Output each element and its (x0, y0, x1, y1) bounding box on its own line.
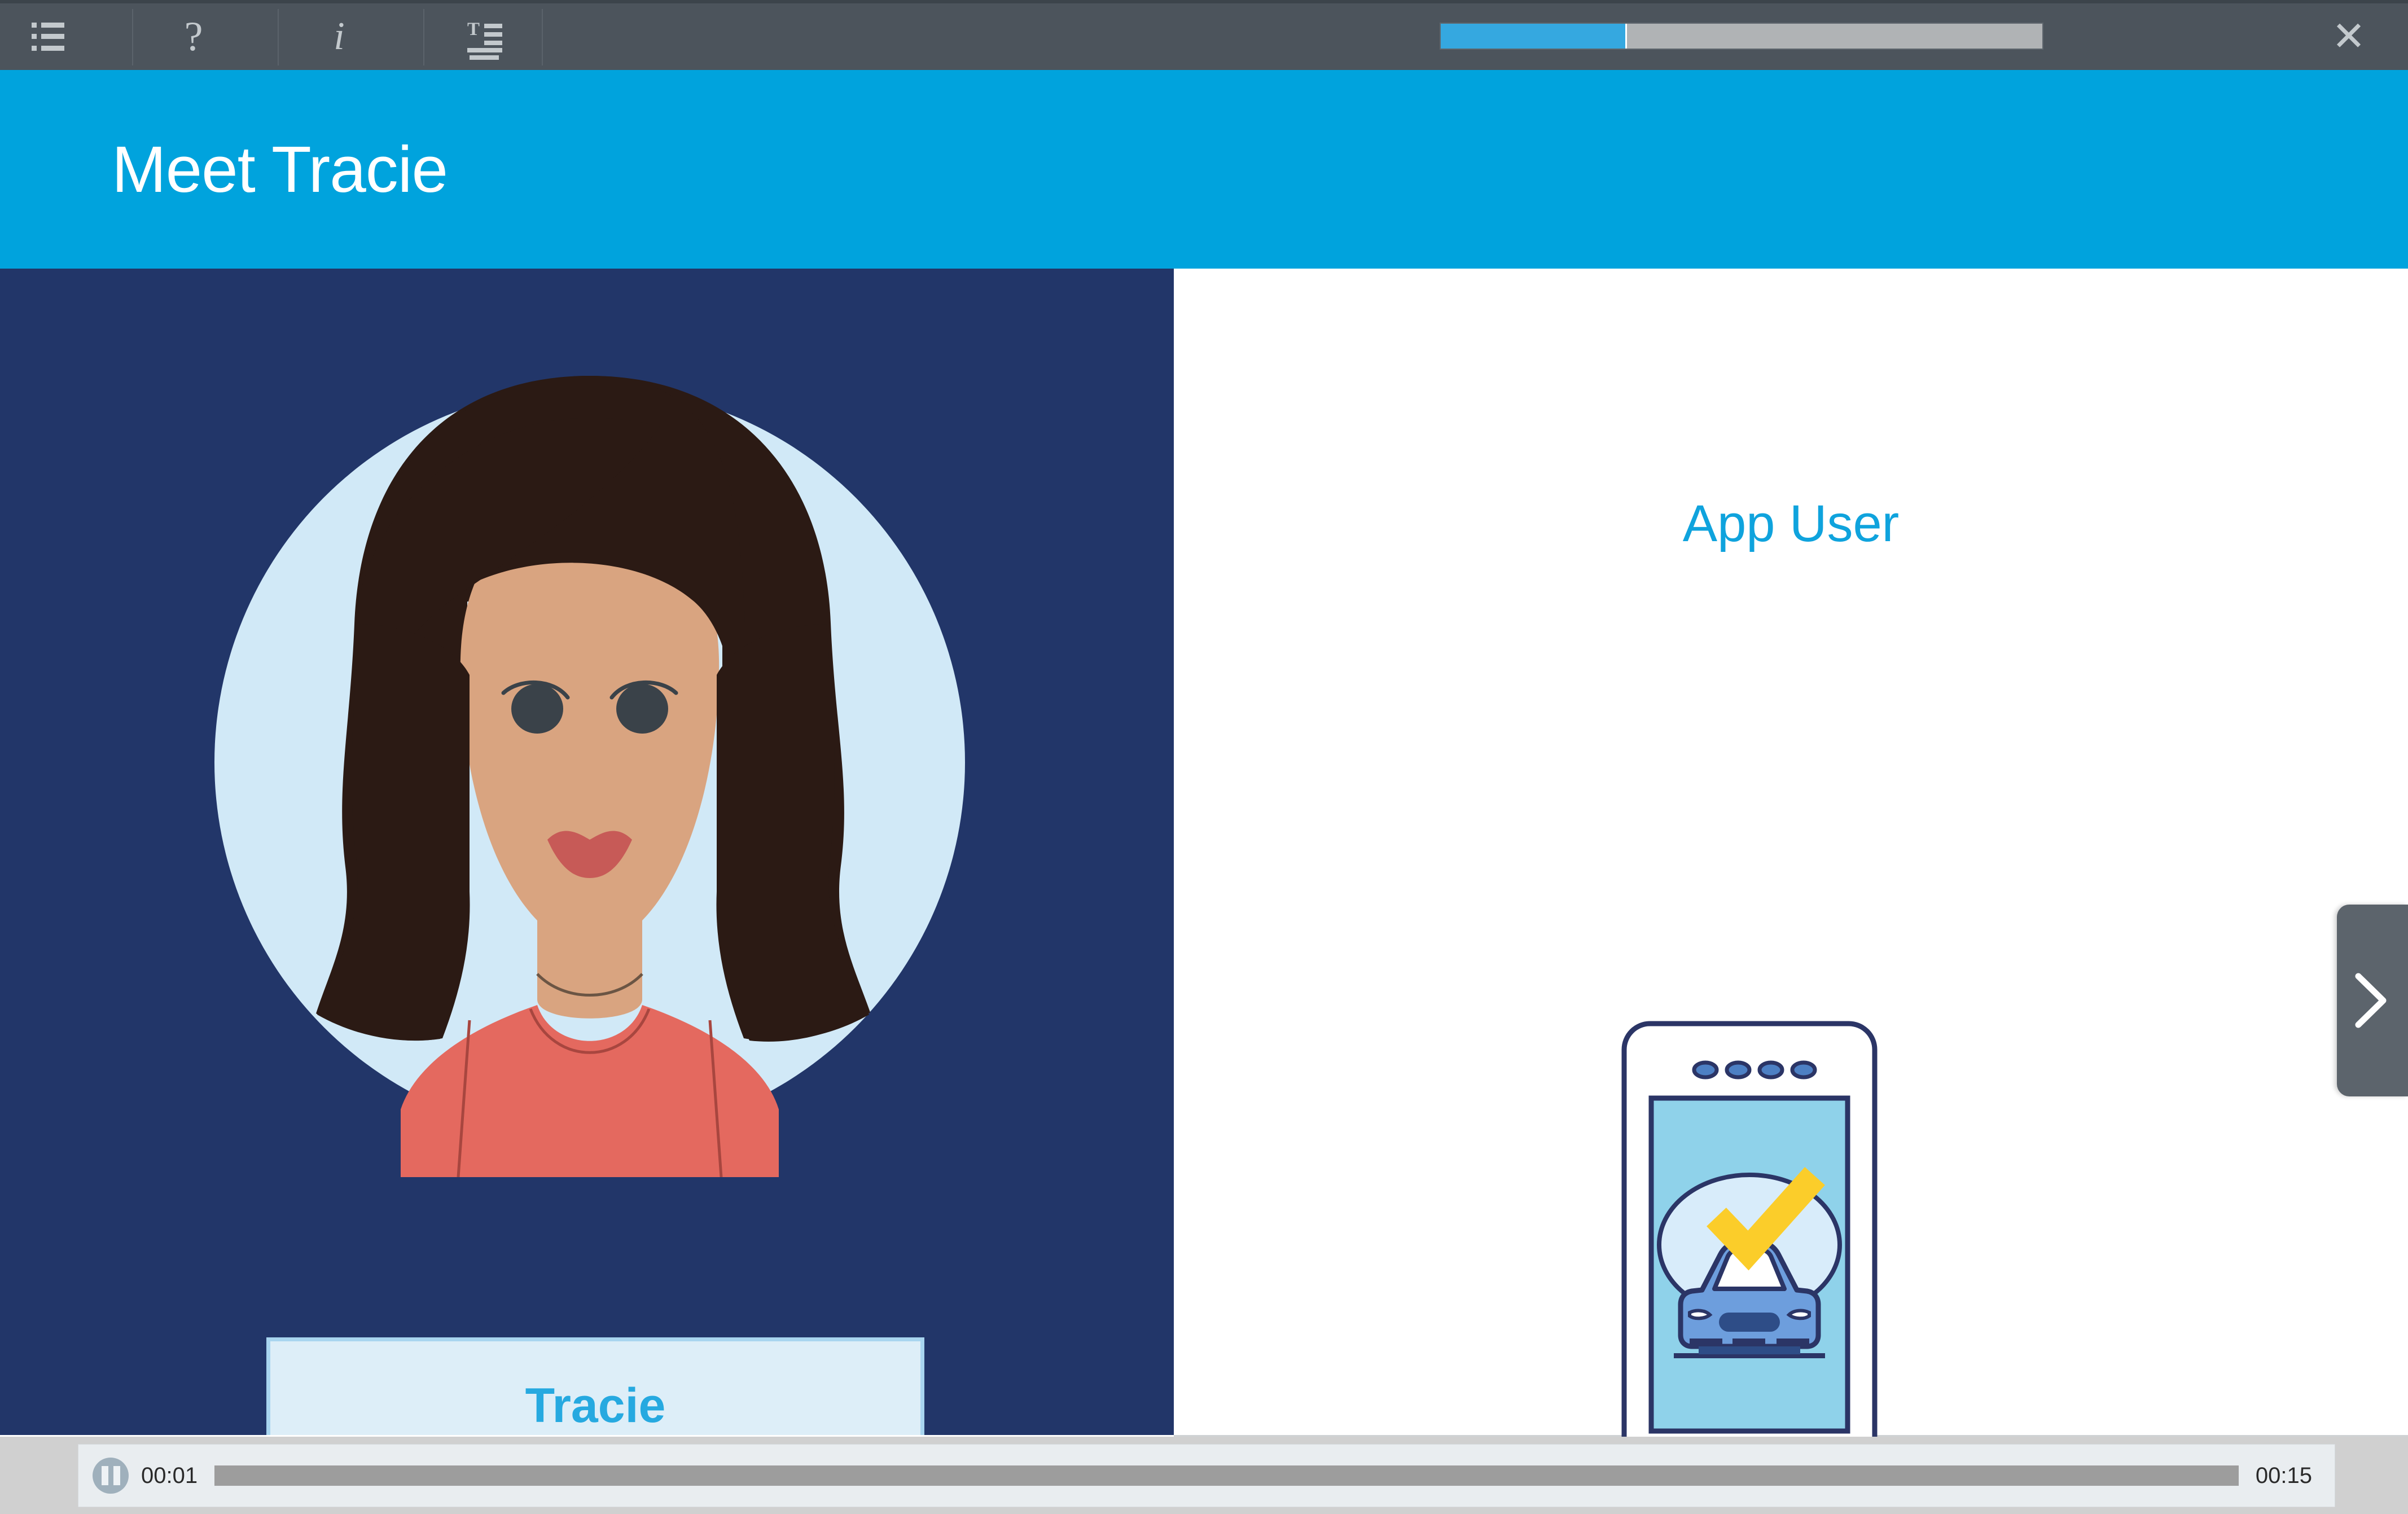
left-panel: Tracie (0, 269, 1174, 1435)
page-title: Meet Tracie (112, 131, 448, 207)
close-button[interactable]: ✕ (2306, 3, 2391, 70)
info-glyph: i (334, 17, 344, 56)
seek-slider[interactable] (214, 1465, 2239, 1486)
next-slide-button[interactable] (2337, 905, 2408, 1096)
menu-list-icon[interactable] (0, 3, 96, 70)
title-banner: Meet Tracie (0, 70, 2408, 269)
course-progress-fill (1441, 24, 1627, 49)
app-user-heading: App User (1174, 494, 2408, 554)
course-progress-bar[interactable] (1440, 23, 2043, 50)
slide-stage: Tracie App User (0, 269, 2408, 1437)
close-icon: ✕ (2332, 16, 2366, 57)
avatar-illustration (214, 359, 965, 1177)
phone-car-checkmark-icon (1620, 1019, 1879, 1504)
name-plate-label: Tracie (525, 1378, 666, 1434)
transcript-glyph: T (467, 21, 502, 52)
top-toolbar: ? i T ✕ (0, 0, 2408, 70)
transcript-icon[interactable]: T (437, 3, 533, 70)
toolbar-divider-2 (278, 9, 279, 65)
info-icon[interactable]: i (291, 3, 387, 70)
avatar (214, 359, 965, 1177)
help-glyph: ? (185, 16, 203, 58)
toolbar-divider-4 (542, 9, 543, 65)
chevron-right-icon (2350, 969, 2390, 1032)
name-plate: Tracie (266, 1337, 924, 1435)
total-time: 00:15 (2256, 1463, 2312, 1489)
pause-icon[interactable] (93, 1458, 129, 1494)
right-panel: App User (1174, 269, 2408, 1437)
help-icon[interactable]: ? (146, 3, 242, 70)
elapsed-time: 00:01 (141, 1463, 198, 1489)
toolbar-divider-3 (423, 9, 424, 65)
toolbar-divider-1 (132, 9, 133, 65)
player-bar: 00:01 00:15 (0, 1437, 2408, 1514)
player-controls: 00:01 00:15 (78, 1444, 2335, 1507)
menu-list-glyph (32, 23, 64, 51)
